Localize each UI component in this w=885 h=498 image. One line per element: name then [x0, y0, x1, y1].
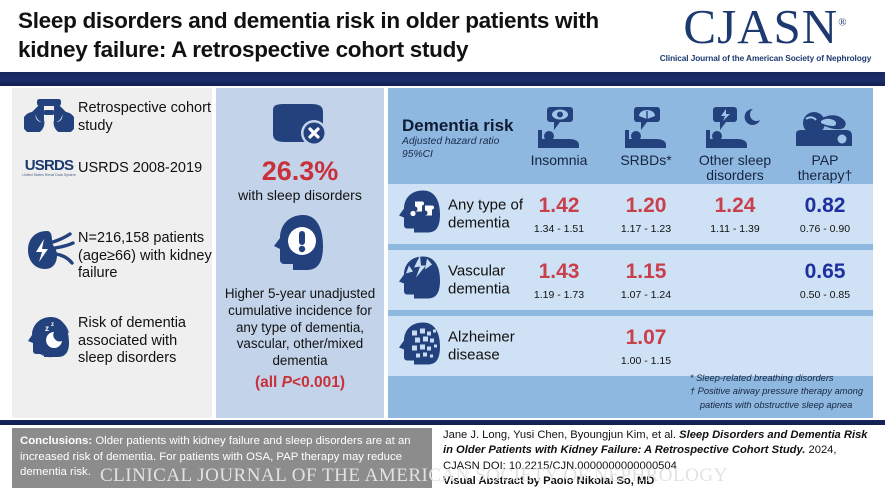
cell-any-other: 1.24 1.11 - 1.39 — [690, 184, 780, 244]
header-divider-bar — [0, 72, 885, 86]
kidney-icon — [20, 228, 78, 272]
cell-any-srbds: 1.20 1.17 - 1.23 — [603, 184, 689, 244]
cumulative-incidence-text: Higher 5-year unadjusted cumulative inci… — [220, 286, 380, 370]
cell-vascular-srbds: 1.15 1.07 - 1.24 — [603, 250, 689, 310]
column-header-other-sleep-disorders: Other sleep disorders — [688, 106, 782, 184]
conclusions-label: Conclusions: — [20, 435, 92, 447]
cjasn-logo-wordmark: CJASN® — [683, 2, 847, 51]
study-item-retrospective-label: Retrospective cohort study — [78, 98, 212, 135]
column-header-srbds: SRBDs* — [603, 106, 689, 168]
cell-any-other-ci: 1.11 - 1.39 — [690, 223, 780, 235]
pap-mask-icon — [780, 106, 870, 150]
footnote-pap-line2: patients with obstructive sleep apnea — [690, 399, 863, 412]
footnote-srbds: * Sleep-related breathing disorders — [690, 372, 863, 385]
sleeping-head-icon: z z — [20, 313, 78, 359]
study-item-usrds-label: USRDS 2008-2019 — [78, 158, 202, 178]
cell-alzheimer-other — [690, 316, 780, 376]
cell-alzheimer-pap — [781, 316, 869, 376]
head-exclamation-icon — [216, 212, 384, 279]
head-cracked-icon — [396, 254, 444, 307]
row-label-vascular-line1: Vascular — [448, 262, 510, 280]
table-footnotes: * Sleep-related breathing disorders † Po… — [690, 372, 863, 412]
cell-any-pap-ci: 0.76 - 0.90 — [781, 223, 869, 235]
p-value-statement: (all P<0.001) — [216, 374, 384, 392]
study-item-usrds: USRDS United States Renal Data System US… — [20, 158, 202, 178]
table-row: Alzheimer disease 1.07 1.00 - 1.15 — [388, 316, 873, 376]
cell-any-pap: 0.82 0.76 - 0.90 — [781, 184, 869, 244]
cell-any-srbds-hr: 1.20 — [603, 195, 689, 216]
bed-eye-icon — [516, 106, 602, 150]
p-value-symbol: P — [282, 374, 292, 391]
cell-vascular-pap: 0.65 0.50 - 0.85 — [781, 250, 869, 310]
binoculars-icon — [20, 98, 78, 132]
cell-any-insomnia-hr: 1.42 — [516, 195, 602, 216]
bed-breathing-icon — [603, 106, 689, 150]
citation-year: 2024, — [805, 444, 836, 456]
row-label-vascular-dementia: Vascular dementia — [448, 262, 510, 297]
footnote-pap-line1: † Positive airway pressure therapy among — [690, 385, 863, 398]
cell-any-pap-hr: 0.82 — [781, 195, 869, 216]
usrds-logo-icon: USRDS United States Renal Data System — [20, 158, 78, 178]
cjasn-logo: CJASN® Clinical Journal of the American … — [658, 2, 873, 63]
dementia-risk-table: Dementia risk Adjusted hazard ratio 95%C… — [388, 88, 873, 418]
bed-lightning-moon-icon — [688, 106, 782, 150]
column-header-pap-label: PAP therapy† — [780, 153, 870, 184]
head-pixels-icon — [396, 320, 444, 373]
panels-container: Retrospective cohort study USRDS United … — [0, 88, 885, 418]
table-row: Any type of dementia 1.42 1.34 - 1.51 1.… — [388, 184, 873, 244]
citation-doi[interactable]: CJASN DOI: 10.2215/CJN.0000000000000504 — [443, 459, 875, 474]
head-puzzle-icon — [396, 188, 444, 241]
svg-text:z: z — [51, 322, 54, 328]
usrds-wordmark: USRDS — [20, 158, 78, 173]
visual-abstract-page: Sleep disorders and dementia risk in old… — [0, 0, 885, 498]
column-header-pap-line1: PAP — [780, 153, 870, 168]
row-label-any-dementia-line2: dementia — [448, 214, 523, 232]
conclusions-box: Conclusions: Older patients with kidney … — [12, 428, 432, 488]
cell-vascular-insomnia-hr: 1.43 — [516, 261, 602, 282]
cell-vascular-srbds-hr: 1.15 — [603, 261, 689, 282]
column-header-insomnia: Insomnia — [516, 106, 602, 168]
column-header-pap-line2: therapy† — [780, 168, 870, 183]
column-header-insomnia-label: Insomnia — [516, 153, 602, 168]
footer-divider-bar — [0, 420, 885, 425]
registered-mark-icon: ® — [838, 17, 847, 29]
svg-text:z: z — [45, 324, 49, 333]
p-value-suffix: <0.001) — [292, 374, 345, 391]
cjasn-logo-text: CJASN — [683, 0, 838, 54]
key-findings-panel: 26.3% with sleep disorders Higher 5-year… — [216, 88, 384, 418]
column-header-srbds-label: SRBDs* — [603, 153, 689, 168]
study-item-outcome: z z Risk of dementia associated with sle… — [20, 313, 212, 368]
row-label-alzheimer-line2: disease — [448, 346, 515, 364]
cell-any-insomnia-ci: 1.34 - 1.51 — [516, 223, 602, 235]
row-label-any-dementia-line1: Any type of — [448, 196, 523, 214]
cell-alzheimer-srbds: 1.07 1.00 - 1.15 — [603, 316, 689, 376]
column-header-other-sleep-disorders-label: Other sleep disorders — [688, 153, 782, 184]
usrds-tagline: United States Renal Data System — [20, 174, 78, 178]
dementia-risk-subtitle-line1: Adjusted hazard ratio — [402, 136, 499, 149]
cell-alzheimer-insomnia — [516, 316, 602, 376]
cell-alzheimer-srbds-hr: 1.07 — [603, 327, 689, 348]
cell-vascular-other — [690, 250, 780, 310]
row-label-vascular-line2: dementia — [448, 280, 510, 298]
cell-vascular-pap-ci: 0.50 - 0.85 — [781, 289, 869, 301]
cjasn-logo-subtitle: Clinical Journal of the American Society… — [658, 53, 873, 63]
study-design-panel: Retrospective cohort study USRDS United … — [12, 88, 212, 418]
cell-any-srbds-ci: 1.17 - 1.23 — [603, 223, 689, 235]
row-label-any-dementia: Any type of dementia — [448, 196, 523, 231]
sleep-disorder-percentage-caption: with sleep disorders — [216, 187, 384, 203]
column-header-pap-therapy: PAP therapy† — [780, 106, 870, 184]
dementia-risk-subtitle: Adjusted hazard ratio 95%CI — [402, 136, 499, 162]
citation-credit: Visual Abstract by Paolo Nikolai So, MD — [443, 475, 654, 487]
table-row: Vascular dementia 1.43 1.19 - 1.73 1.15 … — [388, 250, 873, 310]
p-value-prefix: (all — [255, 374, 282, 391]
page-title: Sleep disorders and dementia risk in old… — [18, 6, 658, 65]
cell-vascular-srbds-ci: 1.07 - 1.24 — [603, 289, 689, 301]
study-item-outcome-label: Risk of dementia associated with sleep d… — [78, 313, 212, 368]
row-label-alzheimer-disease: Alzheimer disease — [448, 328, 515, 363]
study-item-retrospective: Retrospective cohort study — [20, 98, 212, 135]
dementia-risk-subtitle-line2: 95%CI — [402, 149, 499, 162]
dementia-risk-title: Dementia risk — [402, 116, 514, 136]
citation-block: Jane J. Long, Yusi Chen, Byoungjun Kim, … — [443, 428, 875, 490]
cell-vascular-pap-hr: 0.65 — [781, 261, 869, 282]
row-label-alzheimer-line1: Alzheimer — [448, 328, 515, 346]
cell-vascular-insomnia-ci: 1.19 - 1.73 — [516, 289, 602, 301]
footer: Conclusions: Older patients with kidney … — [0, 420, 885, 498]
cell-any-insomnia: 1.42 1.34 - 1.51 — [516, 184, 602, 244]
column-header-other-line1: Other sleep — [688, 153, 782, 168]
header: Sleep disorders and dementia risk in old… — [0, 0, 885, 72]
sleep-disorder-percentage: 26.3% — [216, 156, 384, 187]
citation-authors: Jane J. Long, Yusi Chen, Byoungjun Kim, … — [443, 429, 679, 441]
pillow-no-sleep-icon — [216, 100, 384, 157]
study-item-cohort-size-label: N=216,158 patients (age≥66) with kidney … — [78, 228, 212, 283]
column-header-other-line2: disorders — [688, 168, 782, 183]
cell-any-other-hr: 1.24 — [690, 195, 780, 216]
cell-alzheimer-srbds-ci: 1.00 - 1.15 — [603, 355, 689, 367]
study-item-cohort-size: N=216,158 patients (age≥66) with kidney … — [20, 228, 212, 283]
cell-vascular-insomnia: 1.43 1.19 - 1.73 — [516, 250, 602, 310]
